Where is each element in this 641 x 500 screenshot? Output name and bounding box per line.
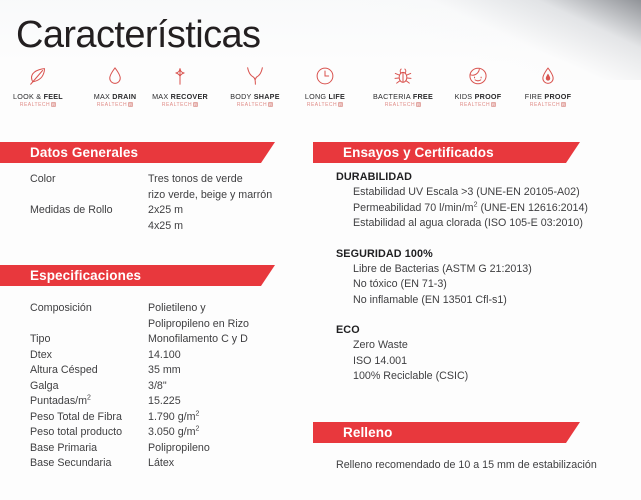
banner-especificaciones: Especificaciones	[0, 265, 275, 286]
spec-value: Polipropileno en Rizo	[148, 317, 249, 333]
spec-value: Monofilamento C y D	[148, 332, 248, 348]
feature-label: KIDS PROOF	[455, 93, 502, 101]
relleno-note: Relleno recomendado de 10 a 15 mm de est…	[336, 458, 597, 473]
clock-icon	[314, 64, 336, 88]
feature-label: MAX DRAIN	[94, 93, 137, 101]
feature-label: LONG LIFE	[305, 93, 345, 101]
spec-key: Color	[30, 172, 148, 188]
spec-row: Colorrizo verde, beige y marrón	[30, 188, 310, 204]
spec-value: 14.100	[148, 348, 181, 364]
ensayo-group: ECOZero WasteISO 14.001100% Reciclable (…	[336, 322, 636, 385]
feature-sublabel: REALTECHR	[460, 102, 496, 108]
spec-value: 35 mm	[148, 363, 181, 379]
spec-row: Altura Césped35 mm	[30, 363, 320, 379]
feature-sublabel: REALTECHR	[237, 102, 273, 108]
spec-value: Látex	[148, 456, 174, 472]
feature-sublabel: REALTECHR	[20, 102, 56, 108]
spec-key: Peso Total de Fibra	[30, 410, 148, 426]
feature-sublabel: REALTECHR	[97, 102, 133, 108]
arrow-up-icon	[169, 64, 191, 88]
feature-clock: LONG LIFEREALTECHR	[280, 64, 370, 108]
spec-key: Tipo	[30, 332, 148, 348]
spec-value: 2x25 m	[148, 203, 183, 219]
spec-key: Galga	[30, 379, 148, 395]
especificaciones-list: ComposiciónPolietileno yComposiciónPolip…	[30, 301, 320, 472]
feature-label: BACTERIA FREE	[373, 93, 433, 101]
spec-value: 3/8"	[148, 379, 167, 395]
banner-relleno-label: Relleno	[313, 425, 392, 440]
spec-row: Galga3/8"	[30, 379, 320, 395]
spec-row: TipoMonofilamento C y D	[30, 332, 320, 348]
feature-flame: FIRE PROOFREALTECHR	[503, 64, 593, 108]
spec-value: Polietileno y	[148, 301, 206, 317]
spec-row: Peso total producto3.050 g/m2	[30, 425, 320, 441]
ensayo-item: Estabilidad UV Escala >3 (UNE-EN 20105-A…	[336, 185, 636, 201]
ensayo-group-title: ECO	[336, 322, 636, 338]
ensayo-item: No inflamable (EN 13501 Cfl-s1)	[336, 293, 636, 309]
banner-especificaciones-label: Especificaciones	[0, 268, 141, 283]
spec-key: Composición	[30, 301, 148, 317]
spec-row: ColorTres tonos de verde	[30, 172, 310, 188]
datos-generales-list: ColorTres tonos de verdeColorrizo verde,…	[30, 172, 310, 234]
spec-key: Altura Césped	[30, 363, 148, 379]
spec-key: Base Secundaria	[30, 456, 148, 472]
leaf-icon	[27, 64, 49, 88]
feature-sublabel: REALTECHR	[162, 102, 198, 108]
kid-face-icon	[467, 64, 489, 88]
y-blade-icon	[244, 64, 266, 88]
ensayo-item: Libre de Bacterias (ASTM G 21:2013)	[336, 262, 636, 278]
spec-row: Puntadas/m215.225	[30, 394, 320, 410]
banner-relleno: Relleno	[313, 422, 580, 443]
spec-row: Peso Total de Fibra1.790 g/m2	[30, 410, 320, 426]
spec-value: 3.050 g/m2	[148, 425, 199, 441]
spec-value: Polipropileno	[148, 441, 210, 457]
feature-label: LOOK & FEEL	[13, 93, 63, 101]
ensayos-groups: DURABILIDADEstabilidad UV Escala >3 (UNE…	[336, 169, 636, 385]
spec-row: ComposiciónPolipropileno en Rizo	[30, 317, 320, 333]
feature-sublabel: REALTECHR	[385, 102, 421, 108]
spec-key: Medidas de Rollo	[30, 203, 148, 219]
page-title: Características	[16, 12, 260, 58]
spec-value: 1.790 g/m2	[148, 410, 199, 426]
ensayo-item: Zero Waste	[336, 338, 636, 354]
ensayo-item: No tóxico (EN 71-3)	[336, 277, 636, 293]
ensayo-item: ISO 14.001	[336, 354, 636, 370]
ensayo-group-title: DURABILIDAD	[336, 169, 636, 185]
datasheet-page: Características LOOK & FEELREALTECHRMAX …	[0, 0, 641, 500]
banner-datos-generales-label: Datos Generales	[0, 145, 138, 160]
ensayo-group-title: SEGURIDAD 100%	[336, 246, 636, 262]
feature-label: MAX RECOVER	[152, 93, 208, 101]
spec-key: Base Primaria	[30, 441, 148, 457]
ensayo-item: 100% Reciclable (CSIC)	[336, 369, 636, 385]
banner-ensayos-label: Ensayos y Certificados	[313, 145, 494, 160]
bacteria-icon	[392, 64, 414, 88]
spec-key: Puntadas/m2	[30, 394, 148, 410]
spec-value: 15.225	[148, 394, 181, 410]
feature-sublabel: REALTECHR	[307, 102, 343, 108]
ensayo-group: SEGURIDAD 100%Libre de Bacterias (ASTM G…	[336, 246, 636, 309]
spec-row: ComposiciónPolietileno y	[30, 301, 320, 317]
spec-value: Tres tonos de verde	[148, 172, 243, 188]
feature-label: FIRE PROOF	[525, 93, 571, 101]
ensayo-group: DURABILIDADEstabilidad UV Escala >3 (UNE…	[336, 169, 636, 232]
feature-icon-strip: LOOK & FEELREALTECHRMAX DRAINREALTECHRMA…	[0, 64, 641, 112]
spec-row: Base PrimariaPolipropileno	[30, 441, 320, 457]
spec-key: Dtex	[30, 348, 148, 364]
ensayo-item: Permeabilidad 70 l/min/m2 (UNE-EN 12616:…	[336, 201, 636, 217]
spec-row: Dtex14.100	[30, 348, 320, 364]
water-drop-icon	[104, 64, 126, 88]
feature-sublabel: REALTECHR	[530, 102, 566, 108]
spec-value: 4x25 m	[148, 219, 183, 235]
ensayo-item: Estabilidad al agua clorada (ISO 105-E 0…	[336, 216, 636, 232]
spec-row: Medidas de Rollo4x25 m	[30, 219, 310, 235]
spec-row: Base SecundariaLátex	[30, 456, 320, 472]
feature-label: BODY SHAPE	[230, 93, 280, 101]
flame-icon	[537, 64, 559, 88]
spec-row: Medidas de Rollo2x25 m	[30, 203, 310, 219]
banner-ensayos: Ensayos y Certificados	[313, 142, 580, 163]
spec-value: rizo verde, beige y marrón	[148, 188, 272, 204]
banner-datos-generales: Datos Generales	[0, 142, 275, 163]
spec-key: Peso total producto	[30, 425, 148, 441]
